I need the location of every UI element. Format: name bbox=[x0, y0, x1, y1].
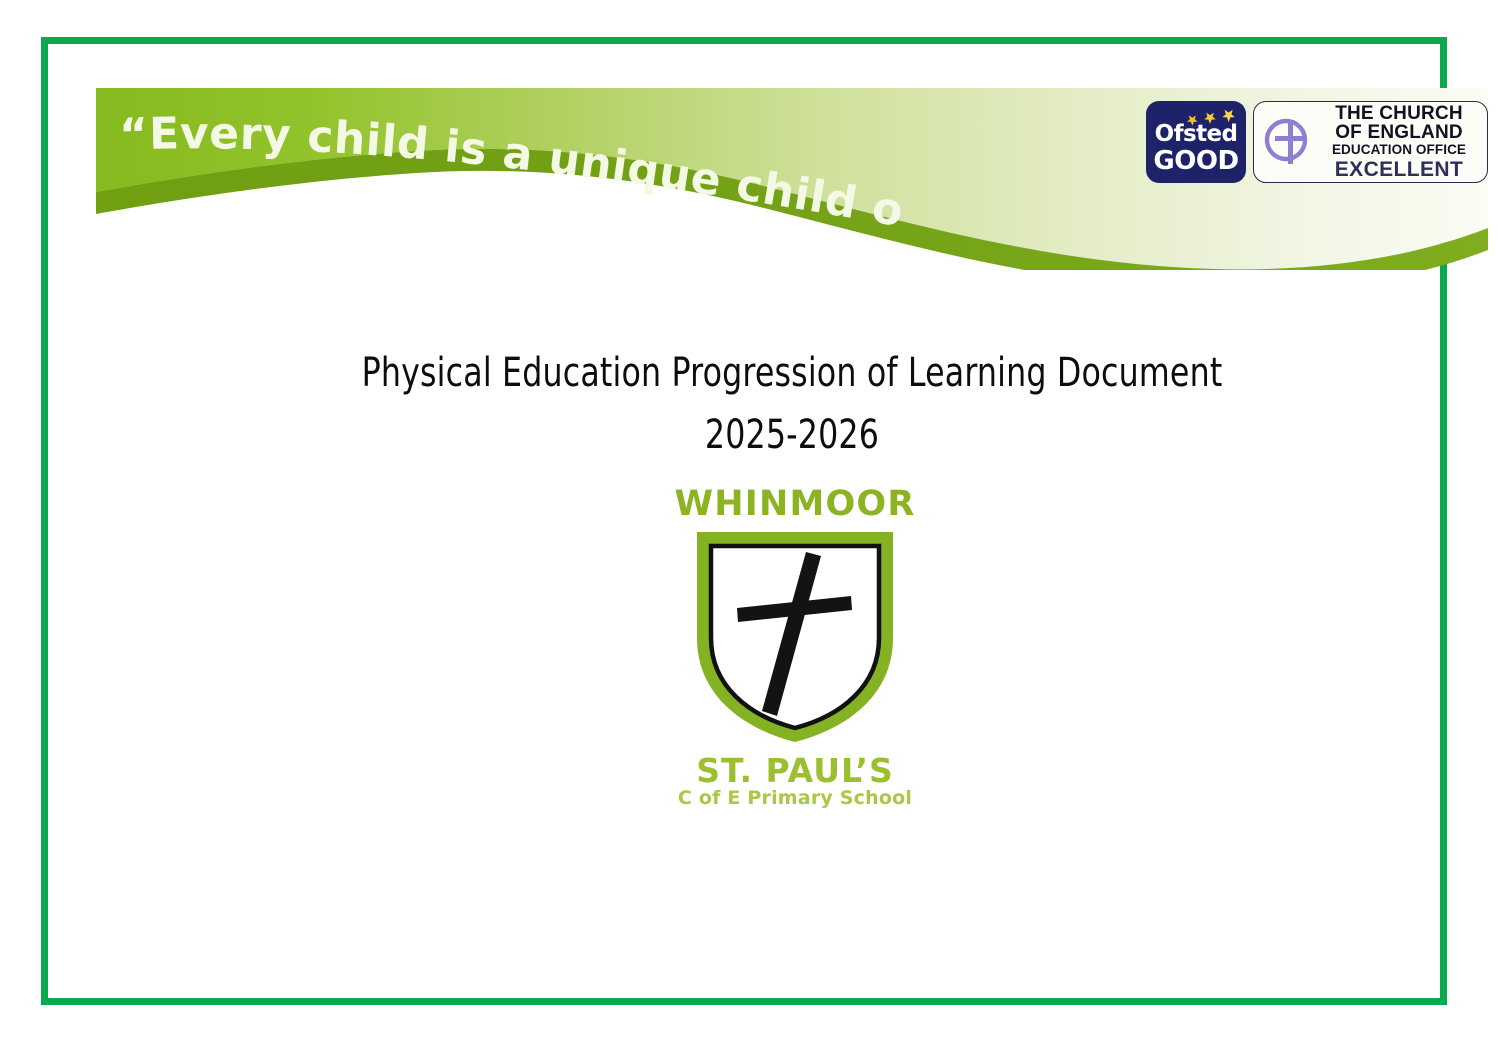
ofsted-grade-label: GOOD bbox=[1146, 148, 1246, 174]
church-of-england-badge: THE CHURCH OF ENGLAND EDUCATION OFFICE E… bbox=[1253, 101, 1488, 183]
cross-in-circle-icon bbox=[1262, 116, 1314, 168]
page-title: Physical Education Progression of Learni… bbox=[180, 342, 1405, 466]
page-title-line-2: 2025-2026 bbox=[180, 404, 1405, 466]
ofsted-badge: Ofsted GOOD bbox=[1146, 101, 1246, 183]
school-logo-name: ST. PAUL’S bbox=[645, 754, 945, 787]
school-logo-word-top: WHINMOOR bbox=[645, 487, 945, 522]
church-of-england-text: THE CHURCH OF ENGLAND EDUCATION OFFICE E… bbox=[1314, 104, 1482, 180]
coe-line-2: OF ENGLAND bbox=[1316, 123, 1482, 142]
page-border-frame: “Every child is a unique child of God.” … bbox=[41, 37, 1447, 1005]
shield-with-cross-icon bbox=[689, 526, 901, 748]
document-page: “Every child is a unique child of God.” … bbox=[0, 0, 1497, 1058]
page-title-line-1: Physical Education Progression of Learni… bbox=[362, 350, 1223, 396]
accreditation-badges: Ofsted GOOD THE CHURCH OF ENGLAND EDUCAT… bbox=[1146, 101, 1488, 189]
school-logo: WHINMOOR ST. PAUL’S C of E Primary Schoo… bbox=[645, 487, 945, 842]
coe-line-1: THE CHURCH bbox=[1316, 104, 1482, 123]
school-logo-subtitle: C of E Primary School bbox=[645, 789, 945, 808]
coe-line-3: EDUCATION OFFICE bbox=[1316, 143, 1482, 157]
coe-rating-label: EXCELLENT bbox=[1316, 159, 1482, 180]
ofsted-label: Ofsted bbox=[1146, 123, 1246, 146]
